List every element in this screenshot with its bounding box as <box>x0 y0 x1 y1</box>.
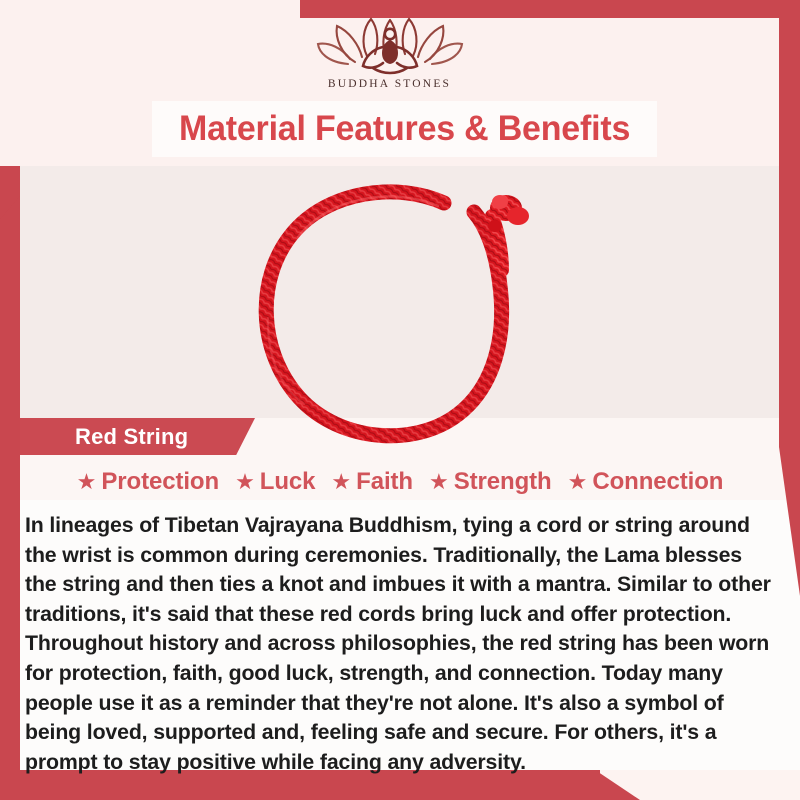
star-icon: ★ <box>235 471 255 493</box>
brand-name: BUDDHA STONES <box>328 78 451 90</box>
star-icon: ★ <box>568 471 588 493</box>
benefit-item: ★ Strength <box>422 468 559 496</box>
benefit-label: Faith <box>356 468 413 496</box>
material-name: Red String <box>75 424 188 450</box>
product-image <box>248 168 574 453</box>
benefit-label: Protection <box>101 468 219 496</box>
benefit-item: ★ Protection <box>70 468 226 496</box>
star-icon: ★ <box>331 471 351 493</box>
benefits-list: ★ Protection ★ Luck ★ Faith ★ Strength ★… <box>20 464 780 500</box>
brand-logo: BUDDHA STONES <box>0 14 779 90</box>
material-ribbon: Red String <box>20 418 255 455</box>
headline-band: Material Features & Benefits <box>152 101 657 157</box>
frame-left-bar <box>0 196 20 780</box>
benefit-label: Luck <box>260 468 316 496</box>
description-text: In lineages of Tibetan Vajrayana Buddhis… <box>25 511 777 777</box>
benefit-item: ★ Connection <box>561 468 731 496</box>
benefit-label: Strength <box>454 468 552 496</box>
star-icon: ★ <box>429 471 449 493</box>
page-title: Material Features & Benefits <box>179 109 630 149</box>
product-feature-poster: BUDDHA STONES Material Features & Benefi… <box>0 0 800 800</box>
benefit-item: ★ Luck <box>228 468 322 496</box>
star-icon: ★ <box>77 471 97 493</box>
lotus-meditation-icon <box>315 14 465 76</box>
benefit-label: Connection <box>592 468 723 496</box>
benefit-item: ★ Faith <box>324 468 420 496</box>
